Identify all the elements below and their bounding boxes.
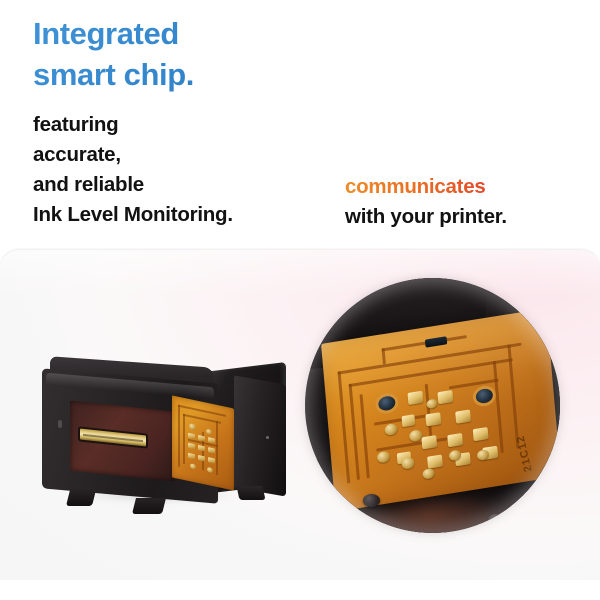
feature-description-right: communicates with your printer. [345,172,595,232]
cartridge-foot-right [132,498,166,514]
macro-retainer-right [488,514,504,527]
product-photo-panel: 21C12 [0,250,600,580]
cartridge-foot-left [66,490,96,506]
macro-flex-circuit-board: 21C12 [321,308,560,511]
feature-description-left: featuring accurate, and reliable Ink Lev… [33,110,333,231]
product-feature-page: Integrated smart chip. featuring accurat… [0,0,600,600]
accent-word-communicates: communicates [345,172,595,202]
cartridge-product-photo [38,358,290,518]
cartridge-rear-face [234,375,286,496]
cartridge-rear-dot [266,436,269,439]
body-copy-block: featuring accurate, and reliable Ink Lev… [0,110,600,235]
cartridge-side-vent [58,420,62,428]
smart-chip-macro-inset: 21C12 [305,278,560,533]
cartridge-smart-chip [172,395,234,490]
cartridge-rear-foot [237,486,266,500]
board-marking-label: 21C12 [514,434,534,474]
printer-compatibility-text: with your printer. [345,202,595,232]
page-headline: Integrated smart chip. [33,14,493,96]
macro-retainer-left [363,494,380,507]
